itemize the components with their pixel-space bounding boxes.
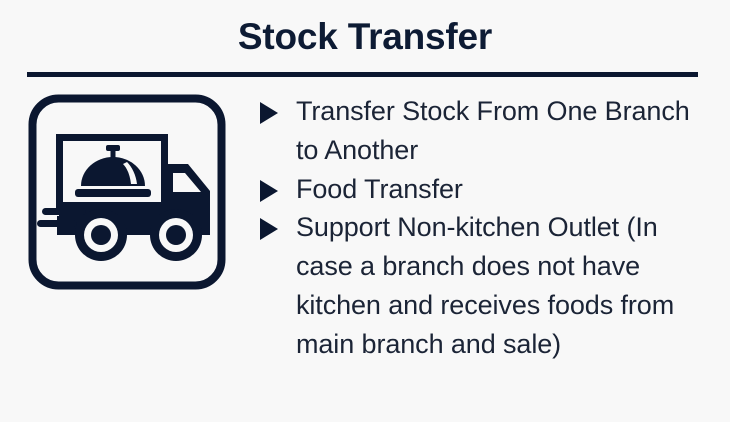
list-item: Transfer Stock From One Branch to Anothe…	[258, 92, 708, 170]
list-item: Food Transfer	[258, 170, 708, 209]
triangle-right-icon	[260, 218, 278, 240]
feature-list: Transfer Stock From One Branch to Anothe…	[258, 92, 708, 364]
list-item-label: Support Non-kitchen Outlet (In case a br…	[296, 208, 708, 363]
slide-header: Stock Transfer	[0, 0, 730, 80]
triangle-right-icon	[260, 102, 278, 124]
food-delivery-truck-icon	[28, 94, 226, 290]
list-item-label: Food Transfer	[296, 170, 708, 209]
list-item-label: Transfer Stock From One Branch to Anothe…	[296, 92, 708, 170]
stock-transfer-slide: Stock Transfer	[0, 0, 730, 422]
slide-body: Transfer Stock From One Branch to Anothe…	[0, 80, 730, 422]
triangle-right-icon	[260, 180, 278, 202]
page-title: Stock Transfer	[0, 14, 730, 60]
list-item: Support Non-kitchen Outlet (In case a br…	[258, 208, 708, 363]
title-divider	[27, 72, 698, 77]
